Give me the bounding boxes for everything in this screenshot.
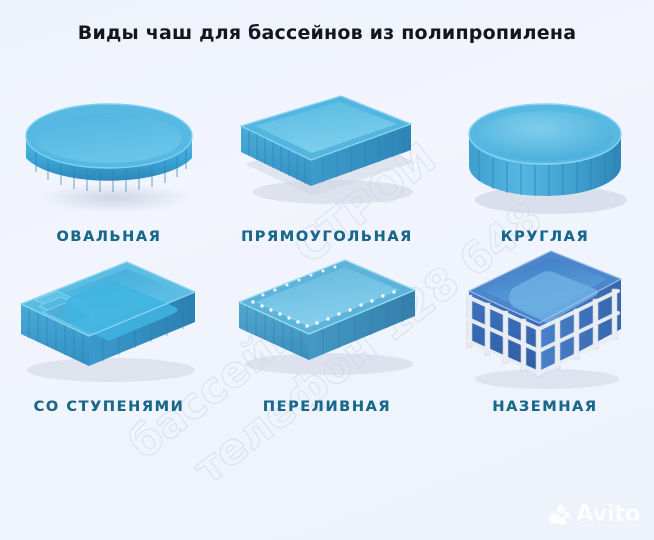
avito-wordmark: Avito (576, 503, 640, 526)
pool-label-steps: СО СТУПЕНЯМИ (34, 399, 185, 415)
avito-logo: Avito (549, 503, 640, 526)
oval-pool-icon (0, 75, 218, 225)
pool-card-steps: СО СТУПЕНЯМИ (0, 245, 218, 415)
rectangular-pool-icon (218, 75, 436, 225)
aboveground-pool-icon (436, 245, 654, 395)
round-pool-icon (436, 75, 654, 225)
pool-card-aboveground: НАЗЕМНАЯ (436, 245, 654, 415)
pool-card-round: КРУГЛАЯ (436, 75, 654, 245)
pool-label-aboveground: НАЗЕМНАЯ (492, 399, 597, 415)
pool-label-overflow: ПЕРЕЛИВНАЯ (263, 399, 391, 415)
image-canvas: бассейны телефон 128 648 СТРОЙ Виды чаш … (0, 0, 654, 540)
pool-card-rectangular: ПРЯМОУГОЛЬНАЯ (218, 75, 436, 245)
pool-row-2: СО СТУПЕНЯМИ (0, 245, 654, 415)
pool-card-overflow: ПЕРЕЛИВНАЯ (218, 245, 436, 415)
avito-dots-icon (549, 505, 571, 525)
pool-label-rectangular: ПРЯМОУГОЛЬНАЯ (241, 229, 413, 245)
steps-pool-icon (0, 245, 218, 395)
overflow-pool-icon (218, 245, 436, 395)
pool-card-oval: ОВАЛЬНАЯ (0, 75, 218, 245)
pool-row-1: ОВАЛЬНАЯ (0, 75, 654, 245)
page-title: Виды чаш для бассейнов из полипропилена (0, 22, 654, 44)
pool-label-round: КРУГЛАЯ (501, 229, 590, 245)
pool-type-grid: ОВАЛЬНАЯ (0, 75, 654, 415)
pool-label-oval: ОВАЛЬНАЯ (56, 229, 161, 245)
